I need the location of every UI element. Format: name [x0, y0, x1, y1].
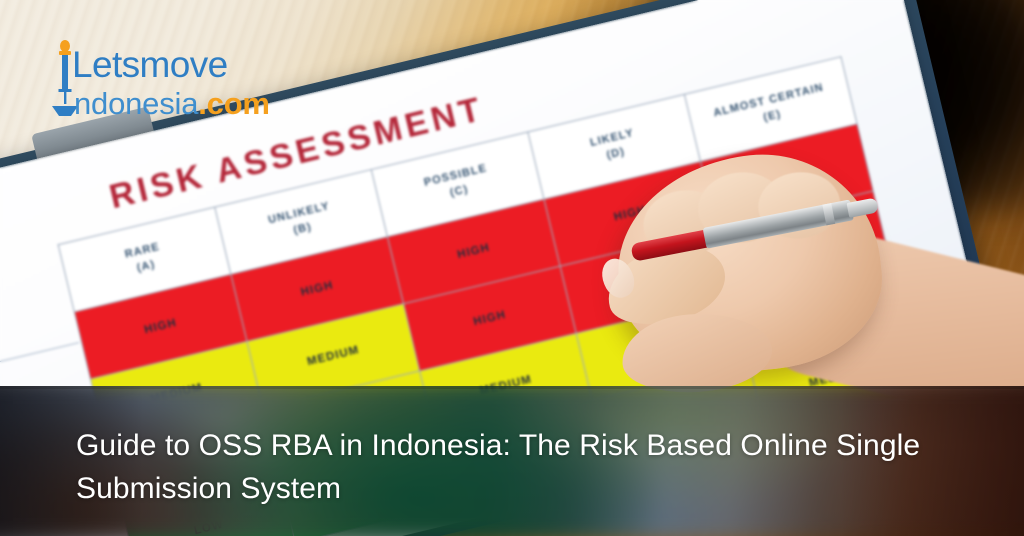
pen-tip: [847, 197, 879, 217]
logo-line-indonesia-com: ndonesia.com: [74, 88, 302, 119]
headline-overlay-band: Guide to OSS RBA in Indonesia: The Risk …: [0, 386, 1024, 536]
col-header-line1: POSSIBLE(C): [423, 162, 488, 199]
hand-holding-pen: [600, 130, 960, 430]
page-title: Guide to OSS RBA in Indonesia: The Risk …: [76, 424, 956, 510]
logo-wordmark: Letsmove ndonesia.com: [72, 46, 302, 119]
overlay-top-edge: [0, 386, 1024, 389]
logo-indonesia-text: ndonesia: [74, 86, 198, 121]
assessment-item-underline: [0, 342, 79, 392]
article-hero-banner: RISK ASSESSMENT Assessment Item RARE(A) …: [0, 0, 1024, 536]
logo-line-letsmove: Letsmove: [72, 46, 302, 83]
logo-tld: com: [207, 86, 270, 121]
col-header-line1: ALMOST CERTAIN(E): [712, 81, 825, 123]
col-header-line1: UNLIKELY(B): [267, 200, 331, 237]
col-header-line1: RARE(A): [124, 241, 161, 274]
site-logo[interactable]: Letsmove ndonesia.com: [48, 38, 288, 122]
logo-dot: .: [198, 86, 206, 121]
